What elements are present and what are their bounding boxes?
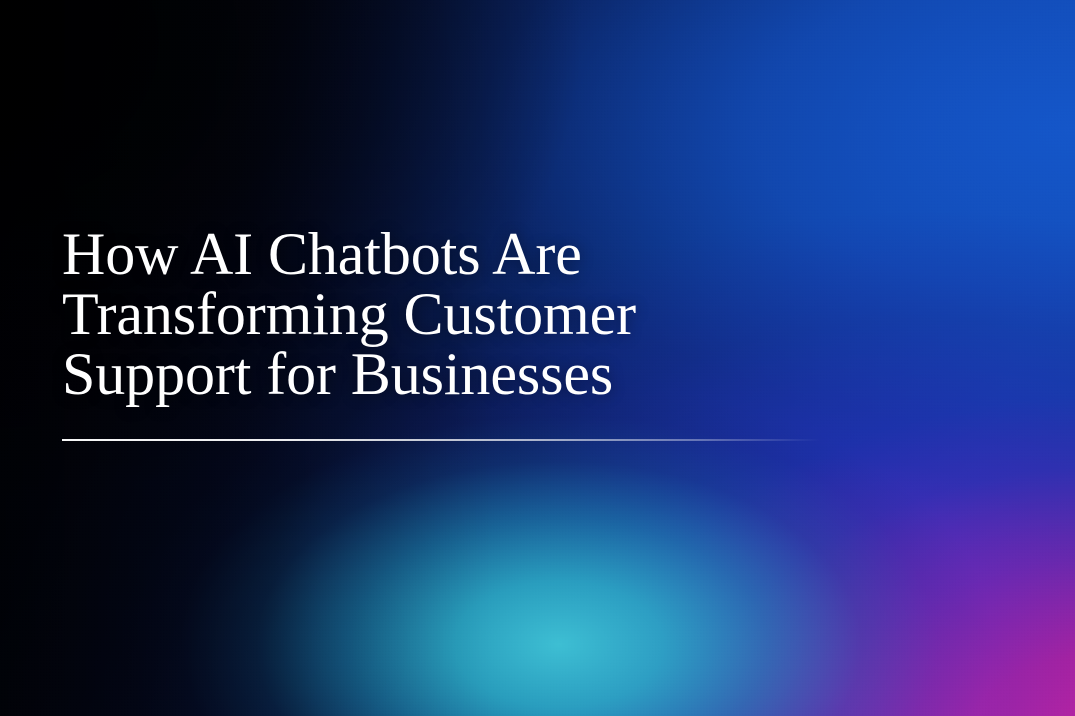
title-underline-rule [62, 439, 820, 441]
hero-content: How AI Chatbots Are Transforming Custome… [0, 0, 1075, 716]
hero-title-line-2: Transforming Customer [62, 284, 822, 344]
hero-title-line-3: Support for Businesses [62, 344, 822, 404]
hero-title-line-1: How AI Chatbots Are [62, 224, 822, 284]
hero-banner: How AI Chatbots Are Transforming Custome… [0, 0, 1075, 716]
hero-title: How AI Chatbots Are Transforming Custome… [62, 224, 822, 404]
